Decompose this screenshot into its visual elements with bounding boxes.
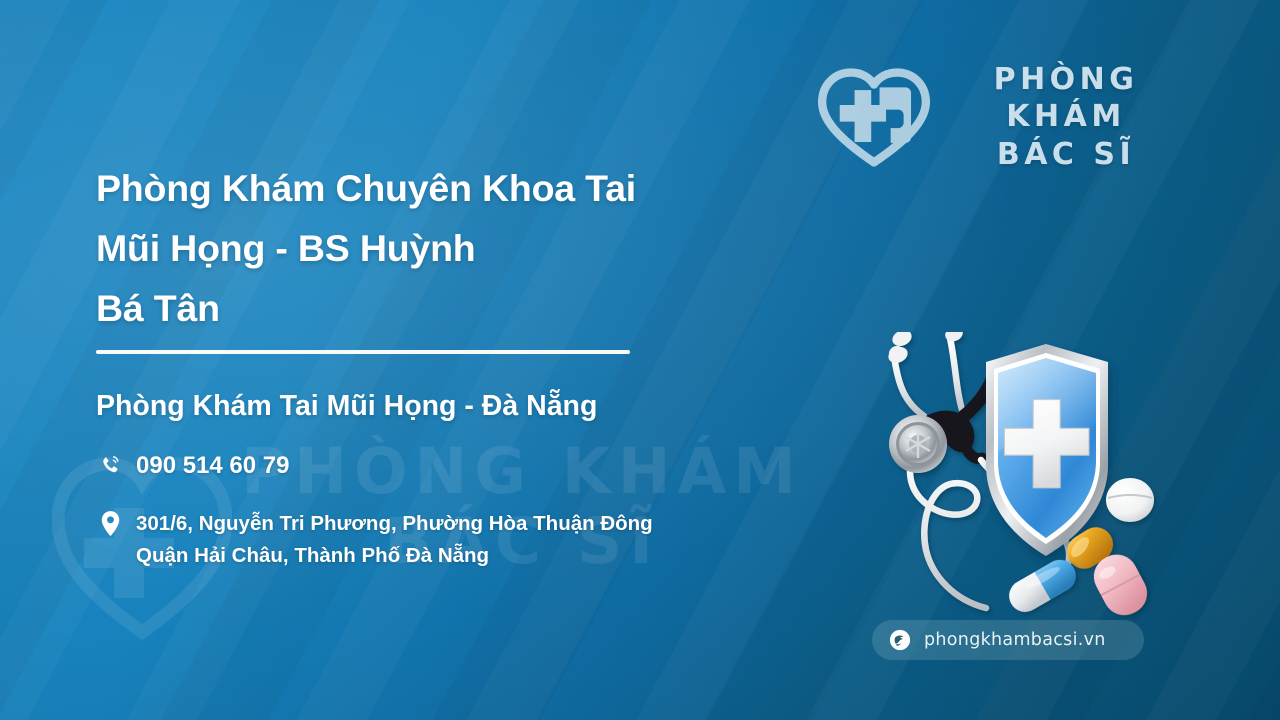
clinic-banner: PHÒNG KHÁM BÁC SĨ Phòng Khám Chuyên Khoa… xyxy=(0,0,1280,720)
content-column: Phòng Khám Chuyên Khoa Tai Mũi Họng - BS… xyxy=(96,0,856,720)
address-line-1: 301/6, Nguyễn Tri Phương, Phường Hòa Thu… xyxy=(136,508,653,540)
title-divider xyxy=(96,350,630,354)
page-title: Phòng Khám Chuyên Khoa Tai Mũi Họng - BS… xyxy=(96,158,796,338)
website-badge[interactable]: phongkhambacsi.vn xyxy=(872,620,1144,660)
subtitle: Phòng Khám Tai Mũi Họng - Đà Nẵng xyxy=(96,384,816,428)
address-row: 301/6, Nguyễn Tri Phương, Phường Hòa Thu… xyxy=(98,508,653,572)
logo-line2: BÁC SĨ xyxy=(944,136,1188,174)
stethoscope-chestpiece xyxy=(889,415,947,473)
logo-line1: PHÒNG KHÁM xyxy=(944,61,1188,136)
address-text: 301/6, Nguyễn Tri Phương, Phường Hòa Thu… xyxy=(136,508,653,572)
website-url[interactable]: phongkhambacsi.vn xyxy=(924,630,1106,650)
headline-line-3: Bá Tân xyxy=(96,278,796,338)
headline-line-1: Phòng Khám Chuyên Khoa Tai xyxy=(96,158,796,218)
globe-icon xyxy=(889,629,911,651)
phone-ringing-icon xyxy=(98,452,122,477)
blue-white-capsule xyxy=(1003,554,1081,618)
logo-text: PHÒNG KHÁM BÁC SĨ xyxy=(944,61,1188,174)
heart-cross-logo-icon xyxy=(818,67,930,167)
blue-shield-with-white-cross xyxy=(986,344,1108,556)
headline-line-2: Mũi Họng - BS Huỳnh xyxy=(96,218,796,278)
phone-number[interactable]: 090 514 60 79 xyxy=(136,452,289,480)
map-pin-icon xyxy=(98,508,122,536)
medical-shield-stethoscope-pills-illustration xyxy=(846,332,1176,622)
address-line-2: Quận Hải Châu, Thành Phố Đà Nẵng xyxy=(136,540,653,572)
white-round-tablet xyxy=(1106,478,1154,522)
phone-row[interactable]: 090 514 60 79 xyxy=(98,452,289,480)
brand-logo[interactable]: PHÒNG KHÁM BÁC SĨ xyxy=(818,62,1188,172)
